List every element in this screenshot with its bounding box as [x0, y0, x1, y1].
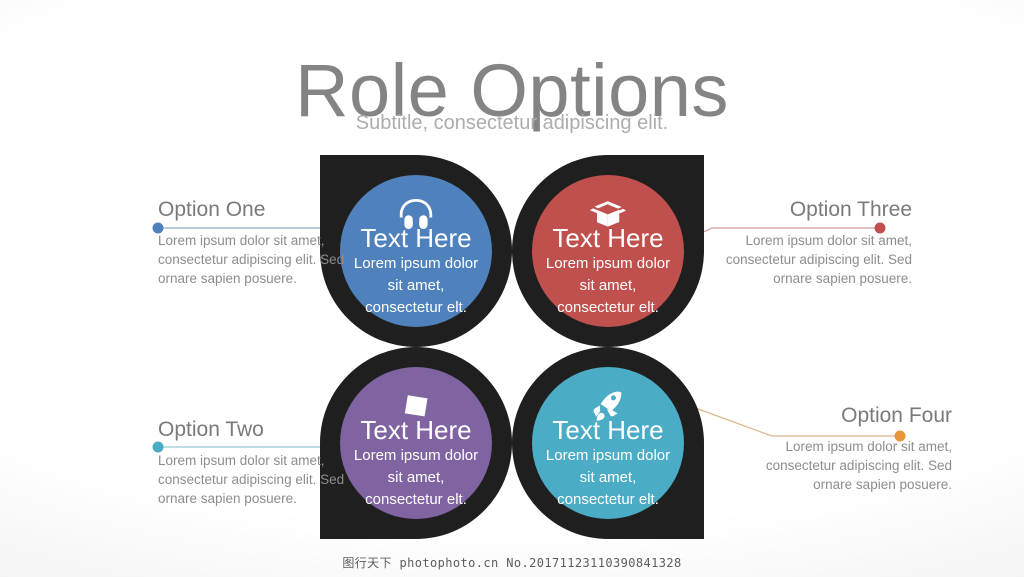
callout-option-one-title: Option One	[158, 198, 358, 222]
callout-option-three-title: Option Three	[712, 198, 912, 222]
disc-purple-body: Lorem ipsum dolor sit amet, consectetur …	[350, 445, 482, 511]
disc-teal[interactable]: Text Here Lorem ipsum dolor sit amet, co…	[532, 367, 684, 519]
callout-option-two[interactable]: Option Two Lorem ipsum dolor sit amet, c…	[158, 418, 358, 508]
callout-option-two-body: Lorem ipsum dolor sit amet, consectetur …	[158, 451, 358, 508]
callout-option-four[interactable]: Option Four Lorem ipsum dolor sit amet, …	[752, 404, 952, 494]
disc-blue-body: Lorem ipsum dolor sit amet, consectetur …	[350, 253, 482, 319]
callout-option-one-body: Lorem ipsum dolor sit amet, consectetur …	[158, 231, 358, 288]
pod-top-right[interactable]: Text Here Lorem ipsum dolor sit amet, co…	[512, 155, 704, 347]
options-quad: Text Here Lorem ipsum dolor sit amet, co…	[320, 155, 704, 539]
disc-blue-heading: Text Here	[340, 223, 492, 254]
callout-option-four-body: Lorem ipsum dolor sit amet, consectetur …	[752, 437, 952, 494]
disc-red-heading: Text Here	[532, 223, 684, 254]
pod-bottom-right[interactable]: Text Here Lorem ipsum dolor sit amet, co…	[512, 347, 704, 539]
disc-purple[interactable]: Text Here Lorem ipsum dolor sit amet, co…	[340, 367, 492, 519]
disc-blue[interactable]: Text Here Lorem ipsum dolor sit amet, co…	[340, 175, 492, 327]
disc-red[interactable]: Text Here Lorem ipsum dolor sit amet, co…	[532, 175, 684, 327]
disc-teal-heading: Text Here	[532, 415, 684, 446]
watermark: 图行天下 photophoto.cn No.201711231103908413…	[0, 554, 1024, 571]
callout-option-two-title: Option Two	[158, 418, 358, 442]
title-block: Role Options Subtitle, consectetur adipi…	[0, 48, 1024, 134]
callout-option-four-title: Option Four	[752, 404, 952, 428]
callout-option-three-body: Lorem ipsum dolor sit amet, consectetur …	[712, 231, 912, 288]
page-title: Role Options	[0, 48, 1024, 134]
callout-option-one[interactable]: Option One Lorem ipsum dolor sit amet, c…	[158, 198, 358, 288]
page-subtitle: Subtitle, consectetur adipiscing elit.	[0, 112, 1024, 135]
callout-option-three[interactable]: Option Three Lorem ipsum dolor sit amet,…	[712, 198, 912, 288]
slide-canvas: Role Options Subtitle, consectetur adipi…	[0, 0, 1024, 577]
disc-teal-body: Lorem ipsum dolor sit amet, consectetur …	[542, 445, 674, 511]
disc-purple-heading: Text Here	[340, 415, 492, 446]
disc-red-body: Lorem ipsum dolor sit amet, consectetur …	[542, 253, 674, 319]
